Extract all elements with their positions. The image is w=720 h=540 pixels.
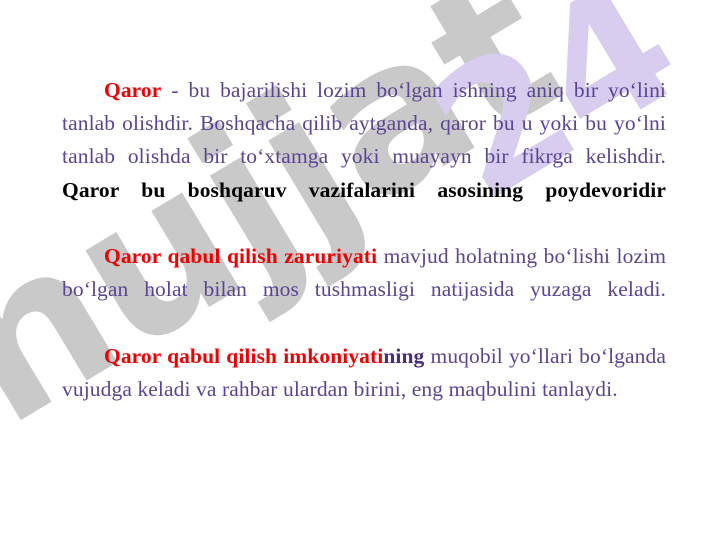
keyword-qaror-boshqaruv: Qaror bu boshqaruv vazifalarini asosinin… bbox=[62, 178, 666, 202]
keyword-qaror: Qaror bbox=[104, 78, 161, 102]
slide-canvas: hujjat 24 Qaror - bu bajarilishi lozim b… bbox=[0, 0, 720, 540]
slide-text-body: Qaror - bu bajarilishi lozim bo‘lgan ish… bbox=[62, 74, 666, 406]
keyword-suffix-ning: ning bbox=[383, 344, 424, 368]
paragraph-2: Qaror qabul qilish zaruriyati mavjud hol… bbox=[62, 240, 666, 340]
keyword-qaror-qabul-qilish-zaruriyati: Qaror qabul qilish zaruriyati bbox=[104, 244, 377, 268]
paragraph-1: Qaror - bu bajarilishi lozim bo‘lgan ish… bbox=[62, 74, 666, 240]
keyword-qaror-qabul-qilish-imkoniyati: Qaror qabul qilish imkoniyati bbox=[104, 344, 383, 368]
paragraph-3: Qaror qabul qilish imkoniyatining muqobi… bbox=[62, 340, 666, 406]
